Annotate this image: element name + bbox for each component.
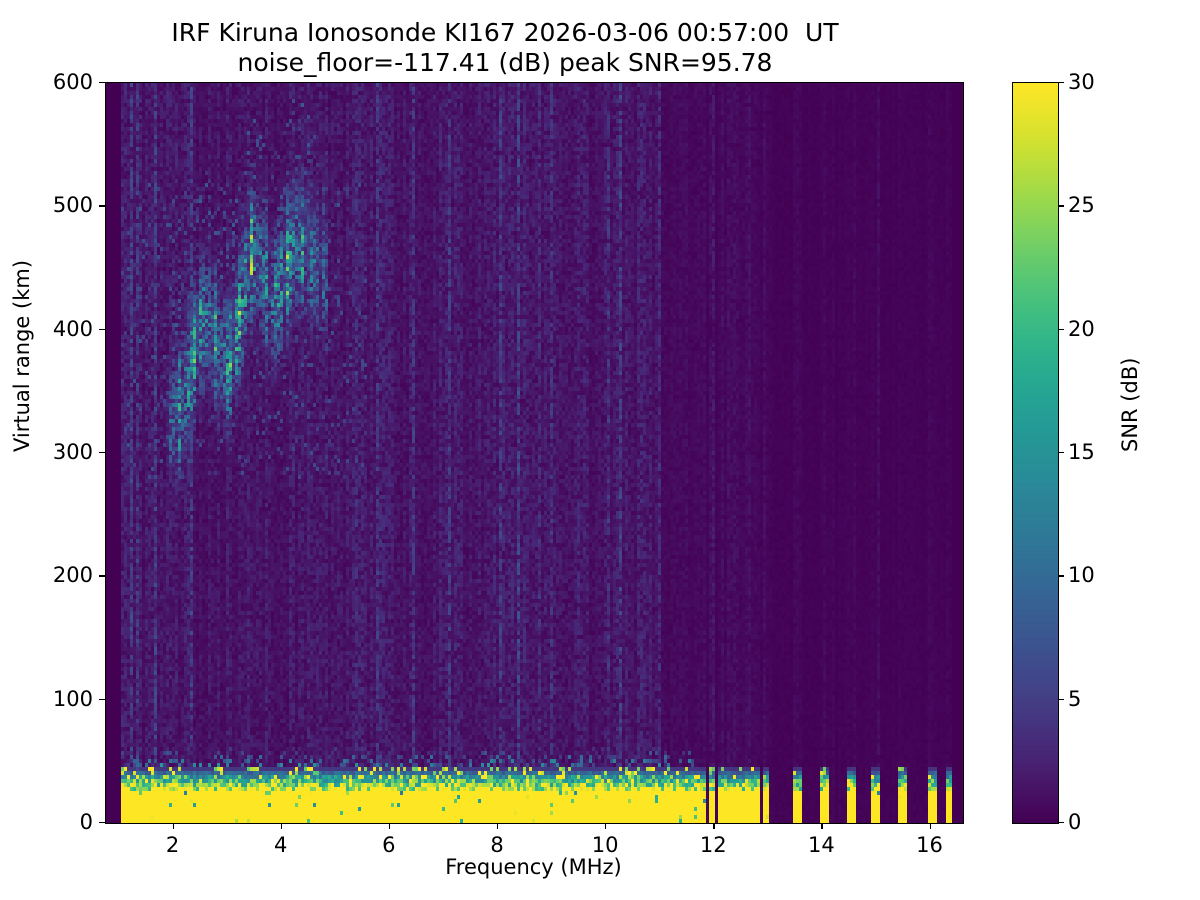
colorbar[interactable]: [1012, 82, 1059, 824]
x-tick-label: 12: [700, 833, 727, 857]
colorbar-tick-mark: [1058, 205, 1064, 206]
x-tick-label: 14: [808, 833, 835, 857]
colorbar-tick-label: 20: [1068, 317, 1095, 341]
y-tick-label: 600: [30, 70, 93, 94]
y-tick-mark: [99, 205, 105, 206]
x-tick-label: 16: [916, 833, 943, 857]
colorbar-tick-label: 15: [1068, 440, 1095, 464]
y-tick-mark: [99, 82, 105, 83]
y-tick-mark: [99, 699, 105, 700]
y-tick-label: 500: [30, 193, 93, 217]
title-line-1: IRF Kiruna Ionosonde KI167 2026-03-06 00…: [0, 18, 1010, 48]
colorbar-tick-mark: [1058, 699, 1064, 700]
ionogram-heatmap-canvas[interactable]: [106, 83, 963, 823]
y-tick-label: 0: [30, 810, 93, 834]
x-tick-label: 2: [166, 833, 179, 857]
x-tick-label: 10: [592, 833, 619, 857]
ionogram-plot-area[interactable]: [105, 82, 964, 824]
ionogram-figure: IRF Kiruna Ionosonde KI167 2026-03-06 00…: [0, 0, 1200, 900]
figure-title: IRF Kiruna Ionosonde KI167 2026-03-06 00…: [0, 18, 1010, 77]
colorbar-tick-mark: [1058, 575, 1064, 576]
x-tick-label: 4: [274, 833, 287, 857]
colorbar-tick-label: 25: [1068, 193, 1095, 217]
title-line-2: noise_floor=-117.41 (dB) peak SNR=95.78: [0, 48, 1010, 78]
colorbar-tick-label: 30: [1068, 70, 1095, 94]
y-tick-label: 300: [30, 440, 93, 464]
colorbar-tick-mark: [1058, 82, 1064, 83]
colorbar-tick-label: 0: [1068, 810, 1081, 834]
x-tick-label: 6: [382, 833, 395, 857]
x-tick-mark: [497, 823, 498, 829]
colorbar-label: SNR (dB): [1118, 358, 1142, 452]
x-tick-mark: [605, 823, 606, 829]
colorbar-tick-mark: [1058, 452, 1064, 453]
colorbar-tick-label: 5: [1068, 687, 1081, 711]
y-axis-label: Virtual range (km): [10, 260, 34, 452]
y-tick-label: 100: [30, 687, 93, 711]
colorbar-tick-mark: [1058, 822, 1064, 823]
colorbar-gradient: [1013, 83, 1058, 823]
x-tick-label: 8: [490, 833, 503, 857]
y-tick-mark: [99, 329, 105, 330]
y-tick-mark: [99, 822, 105, 823]
y-tick-mark: [99, 575, 105, 576]
x-tick-mark: [821, 823, 822, 829]
x-tick-mark: [281, 823, 282, 829]
x-tick-mark: [713, 823, 714, 829]
y-tick-label: 400: [30, 317, 93, 341]
y-tick-mark: [99, 452, 105, 453]
x-axis-label: Frequency (MHz): [105, 855, 962, 879]
y-tick-label: 200: [30, 563, 93, 587]
x-tick-mark: [173, 823, 174, 829]
colorbar-tick-label: 10: [1068, 563, 1095, 587]
colorbar-tick-mark: [1058, 329, 1064, 330]
x-tick-mark: [389, 823, 390, 829]
x-tick-mark: [930, 823, 931, 829]
